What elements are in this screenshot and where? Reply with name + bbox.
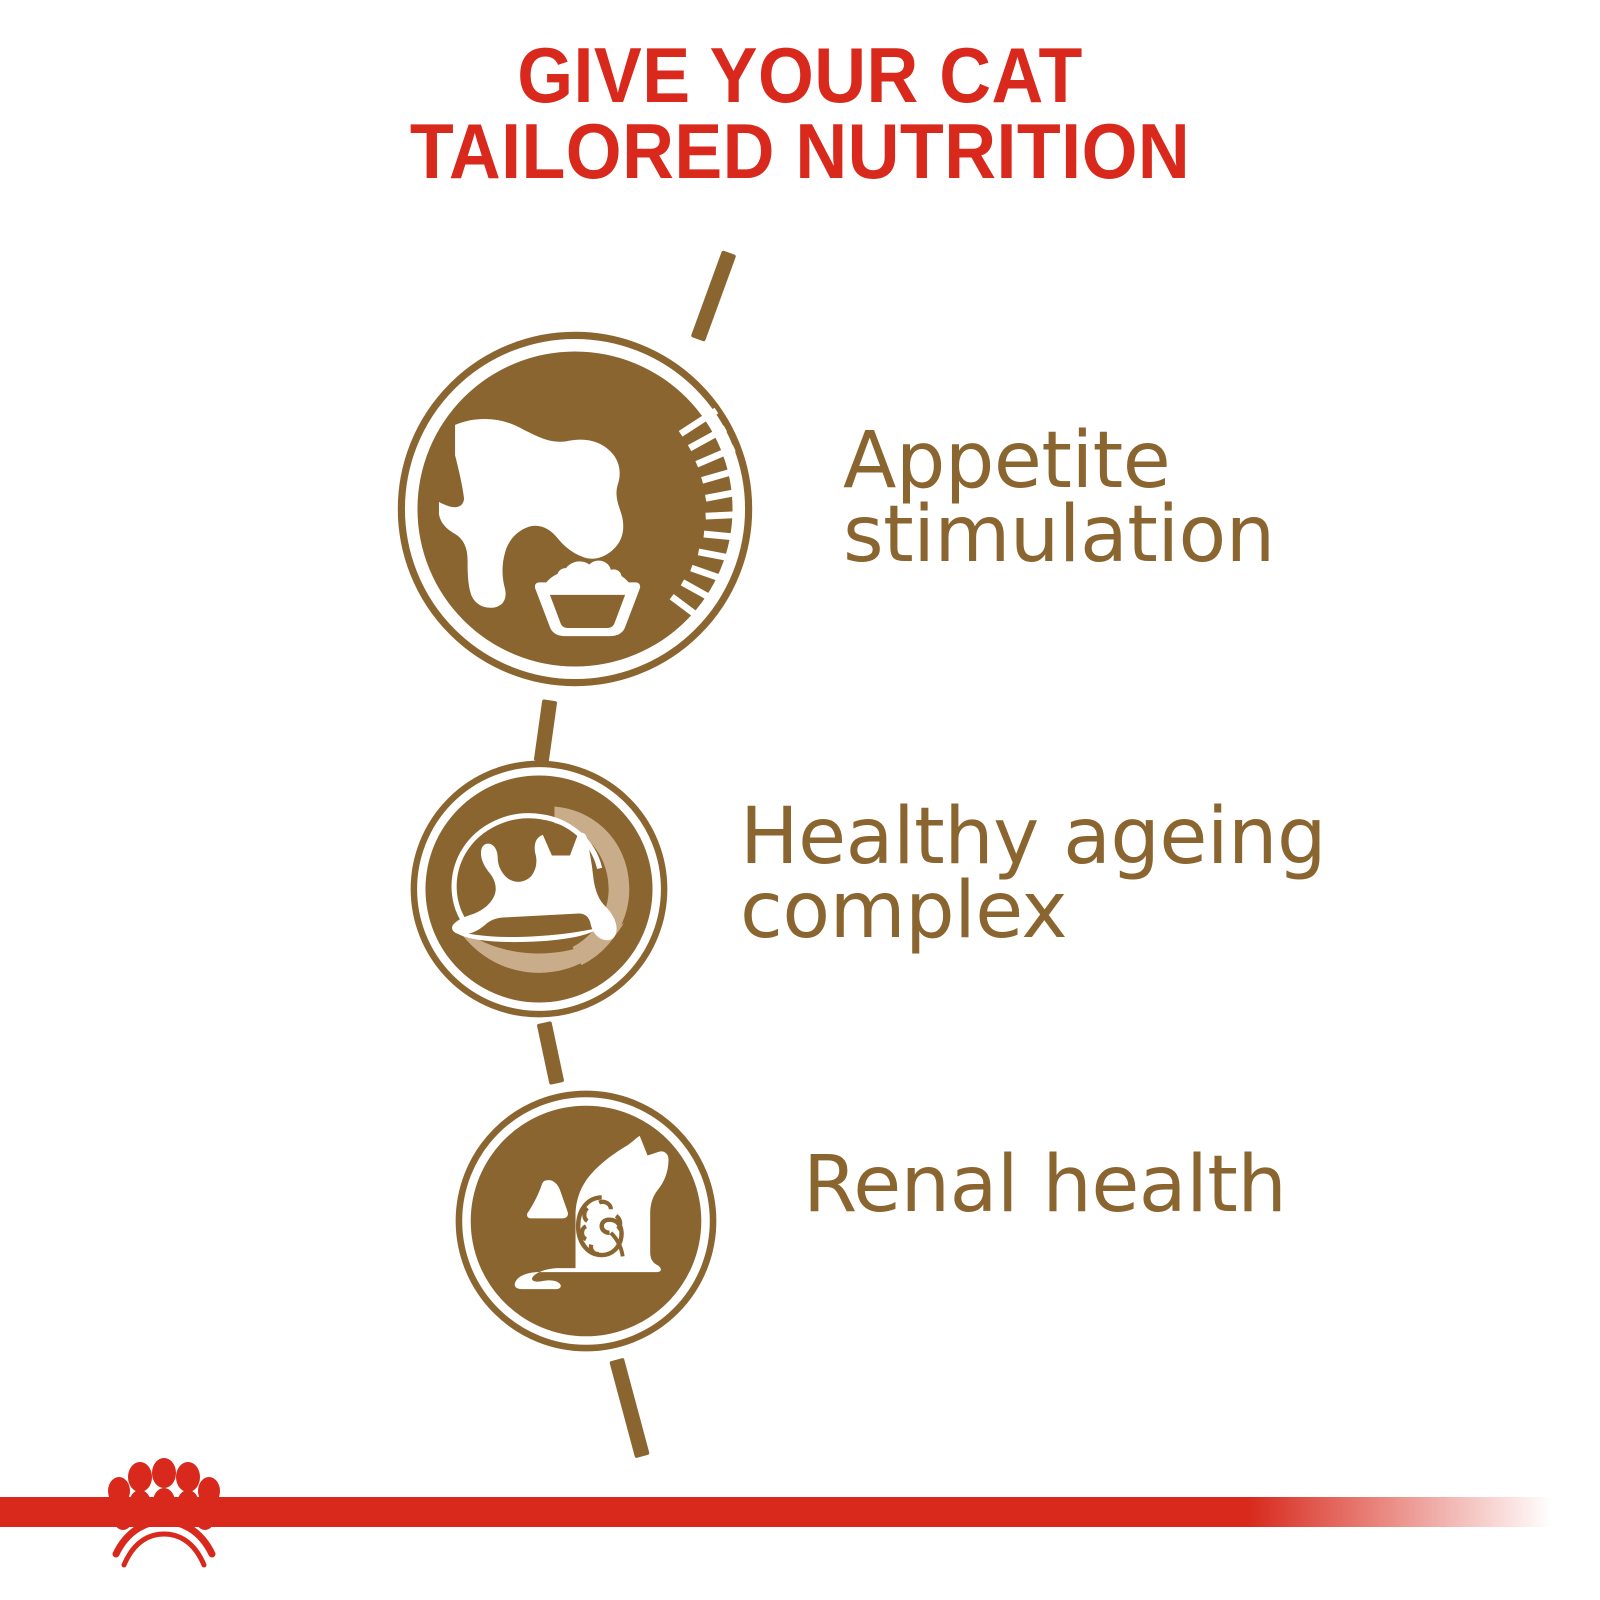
feature-label-appetite-stimulation: Appetite stimulation	[843, 424, 1463, 572]
feature-label-renal-health: Renal health	[803, 1148, 1443, 1222]
page-title: GIVE YOUR CAT TAILORED NUTRITION	[64, 38, 1536, 189]
connector-dash-top	[691, 250, 737, 342]
connector-dash-middle-lower	[537, 1021, 565, 1085]
feature-label-healthy-ageing-complex: Healthy ageing complex	[740, 800, 1440, 948]
connector-dash-middle-upper	[534, 699, 557, 762]
brand-bar	[0, 1497, 1600, 1527]
reclining-cat-icon	[410, 760, 668, 1018]
connector-dash-bottom	[609, 1358, 649, 1458]
cat-eating-bowl-icon	[396, 330, 754, 688]
poster-canvas: GIVE YOUR CAT TAILORED NUTRITION	[0, 0, 1600, 1600]
sitting-cat-kidney-icon	[455, 1090, 717, 1352]
royal-canin-crown-logo	[100, 1455, 228, 1573]
